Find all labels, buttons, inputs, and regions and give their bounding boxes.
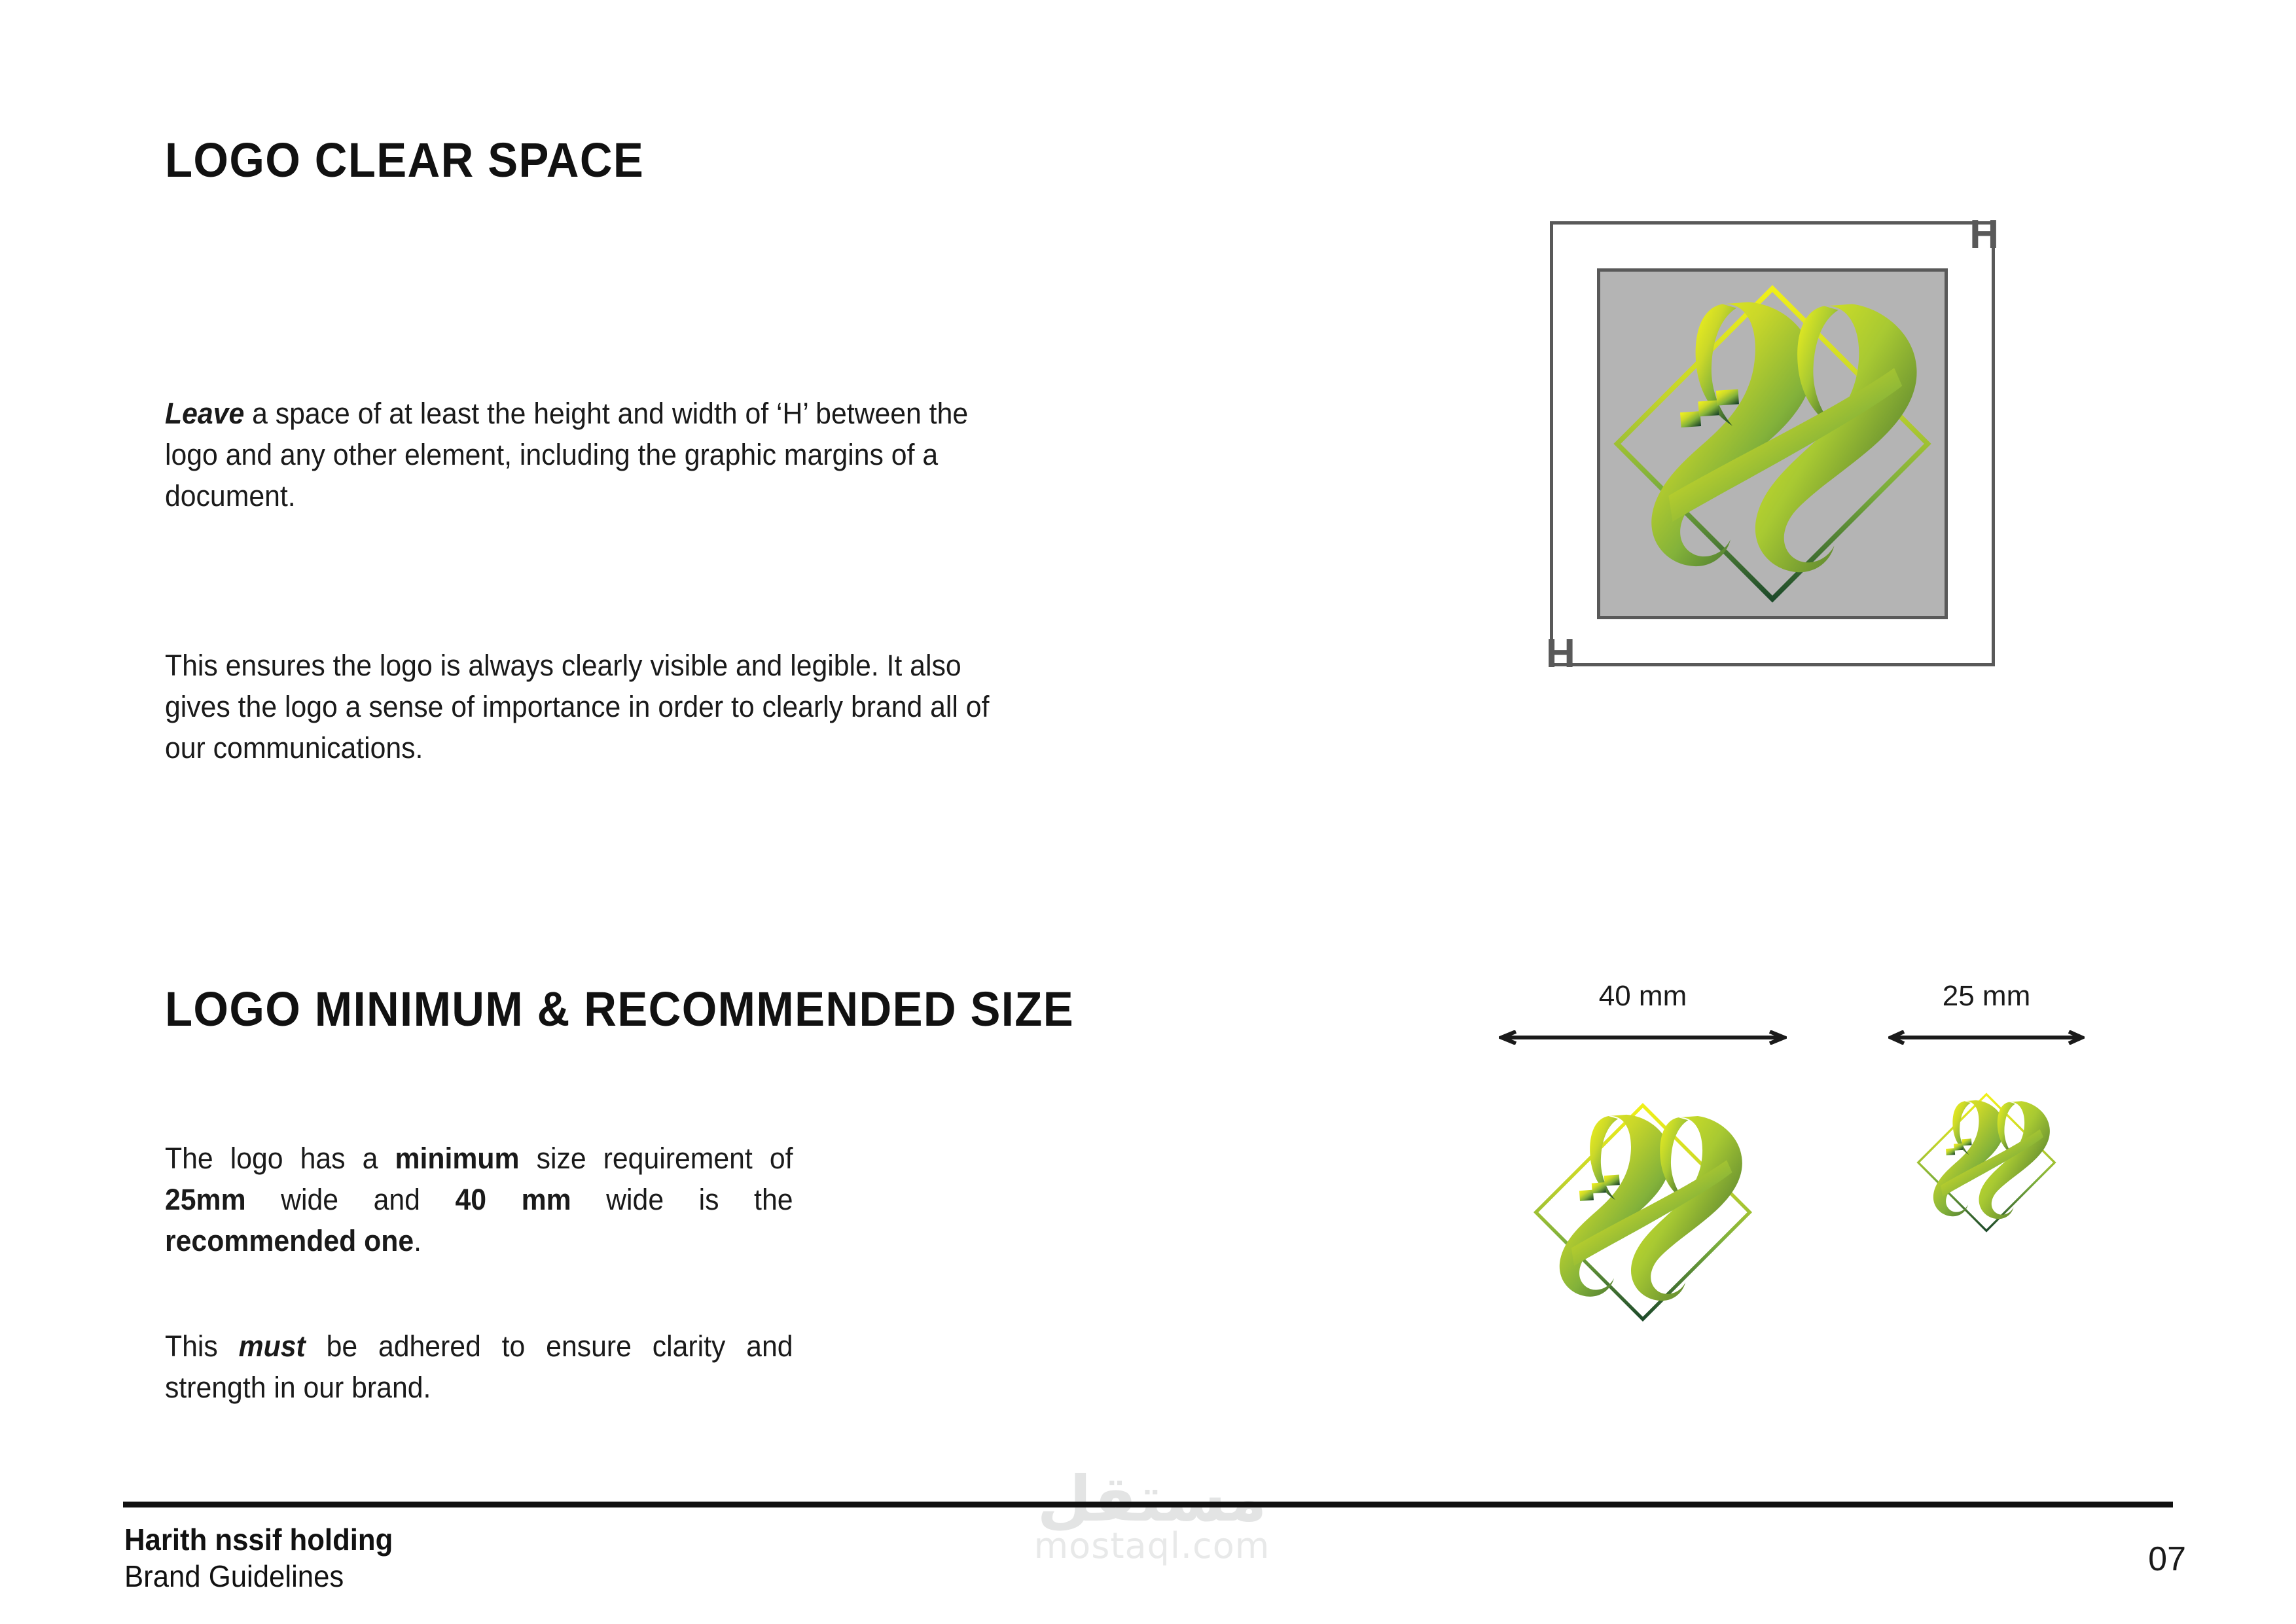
msp1-bold2: 25mm	[165, 1183, 246, 1216]
footer-subtitle: Brand Guidelines	[124, 1559, 344, 1594]
logo-svg	[1597, 268, 1948, 619]
watermark-domain-text: mostaql.com	[1008, 1528, 1296, 1564]
msp1-part1: The logo has a	[165, 1142, 395, 1175]
clear-space-diagram: H H	[1550, 221, 1995, 666]
msp1-part3: wide and	[246, 1183, 456, 1216]
msp1-bold3: 40 mm	[455, 1183, 571, 1216]
clear-space-paragraph-2: This ensures the logo is always clearly …	[165, 645, 1023, 768]
msp1-bold1: minimum	[395, 1142, 519, 1175]
minimum-size-paragraph-2: This must be adhered to ensure clarity a…	[165, 1326, 793, 1408]
watermark-arabic-text: مستقل	[1008, 1466, 1296, 1532]
page-title-logo-clear-space: LOGO CLEAR SPACE	[165, 136, 644, 185]
minimum-size-paragraph-1: The logo has a minimum size requirement …	[165, 1138, 793, 1261]
msp1-part5: .	[414, 1224, 422, 1257]
size-label-40mm: 40 mm	[1499, 982, 1787, 1011]
dimension-arrow-25mm	[1888, 1030, 2085, 1045]
msp1-part2: size requirement of	[520, 1142, 793, 1175]
clear-space-paragraph-1-rest: a space of at least the height and width…	[165, 397, 968, 513]
clear-space-paragraph-1: Leave a space of at least the height and…	[165, 393, 1023, 516]
size-comparison-diagram: 40 mm	[1460, 982, 2153, 1453]
msp1-bold4: recommended one	[165, 1224, 414, 1257]
page-number: 07	[2148, 1542, 2186, 1576]
clear-space-paragraph-1-emphasis: Leave	[165, 397, 244, 430]
footer-brand-name: Harith nssif holding	[124, 1523, 393, 1557]
mostaql-watermark: مستقل mostaql.com	[1008, 1466, 1296, 1604]
msp1-part4: wide is the	[571, 1183, 793, 1216]
size-sample-minimum: 25 mm	[1888, 982, 2085, 1250]
msp2-part1: This	[165, 1329, 239, 1363]
logo-mark-25mm	[1899, 1075, 2074, 1250]
msp2-bold-italic: must	[239, 1329, 306, 1363]
clear-space-inner-box	[1597, 268, 1948, 619]
logo-holder-25mm	[1888, 1075, 2085, 1250]
size-sample-recommended: 40 mm	[1499, 982, 1787, 1350]
logo-holder-40mm	[1499, 1075, 1787, 1350]
footer-divider	[123, 1502, 2173, 1507]
size-label-25mm: 25 mm	[1888, 982, 2085, 1011]
page-title-logo-minimum-size: LOGO MINIMUM & RECOMMENDED SIZE	[165, 985, 1074, 1034]
clear-space-h-marker-bottom-left: H	[1546, 634, 1575, 674]
logo-mark-40mm	[1505, 1075, 1780, 1350]
logo-mark-clearspace	[1597, 268, 1948, 619]
clear-space-h-marker-top-right: H	[1969, 215, 1999, 255]
dimension-arrow-40mm	[1499, 1030, 1787, 1045]
